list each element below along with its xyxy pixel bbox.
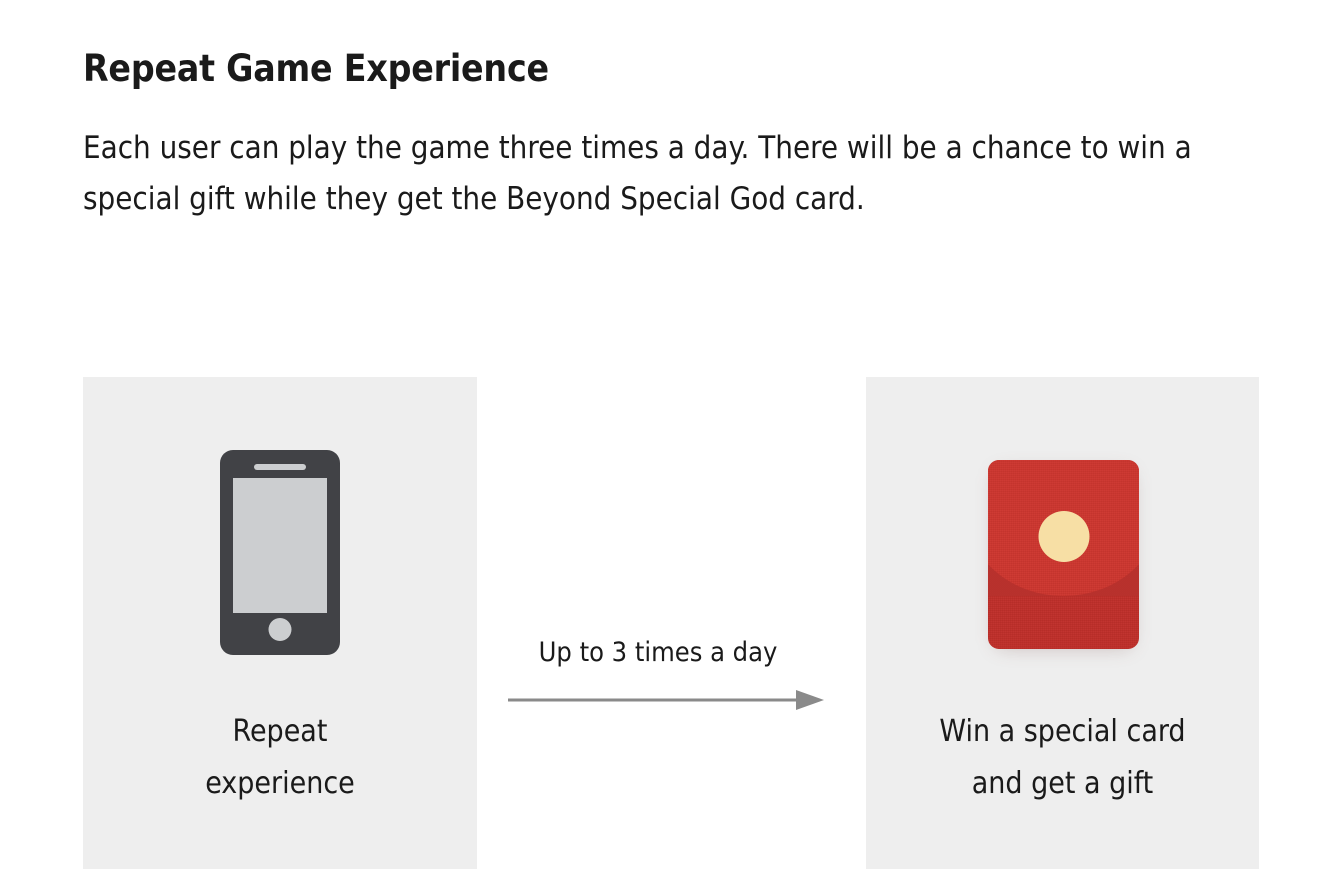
phone-screen <box>233 478 327 613</box>
page-title: Repeat Game Experience <box>83 47 549 90</box>
flow-arrow-group: Up to 3 times a day <box>508 636 824 718</box>
panel-left-caption-line1: Repeat <box>83 706 477 758</box>
phone-speaker-icon <box>254 464 306 470</box>
phone-home-button-icon <box>269 618 292 641</box>
panel-right-caption-line1: Win a special card <box>866 706 1259 758</box>
panel-right-caption: Win a special card and get a gift <box>866 706 1259 810</box>
panel-win-special-card: Win a special card and get a gift <box>866 377 1259 869</box>
envelope-seal-icon <box>1038 511 1089 562</box>
arrow-label: Up to 3 times a day <box>508 636 808 670</box>
slide-description: Each user can play the game three times … <box>83 123 1263 225</box>
panel-left-caption-line2: experience <box>83 758 477 810</box>
phone-body <box>220 450 340 655</box>
slide-root: { "slide": { "title": "Repeat Game Exper… <box>0 0 1338 894</box>
panel-left-caption: Repeat experience <box>83 706 477 810</box>
arrow-right-icon <box>508 688 824 712</box>
panel-right-caption-line2: and get a gift <box>866 758 1259 810</box>
red-envelope-icon <box>988 460 1139 649</box>
smartphone-icon <box>220 450 340 655</box>
panel-repeat-experience: Repeat experience <box>83 377 477 869</box>
